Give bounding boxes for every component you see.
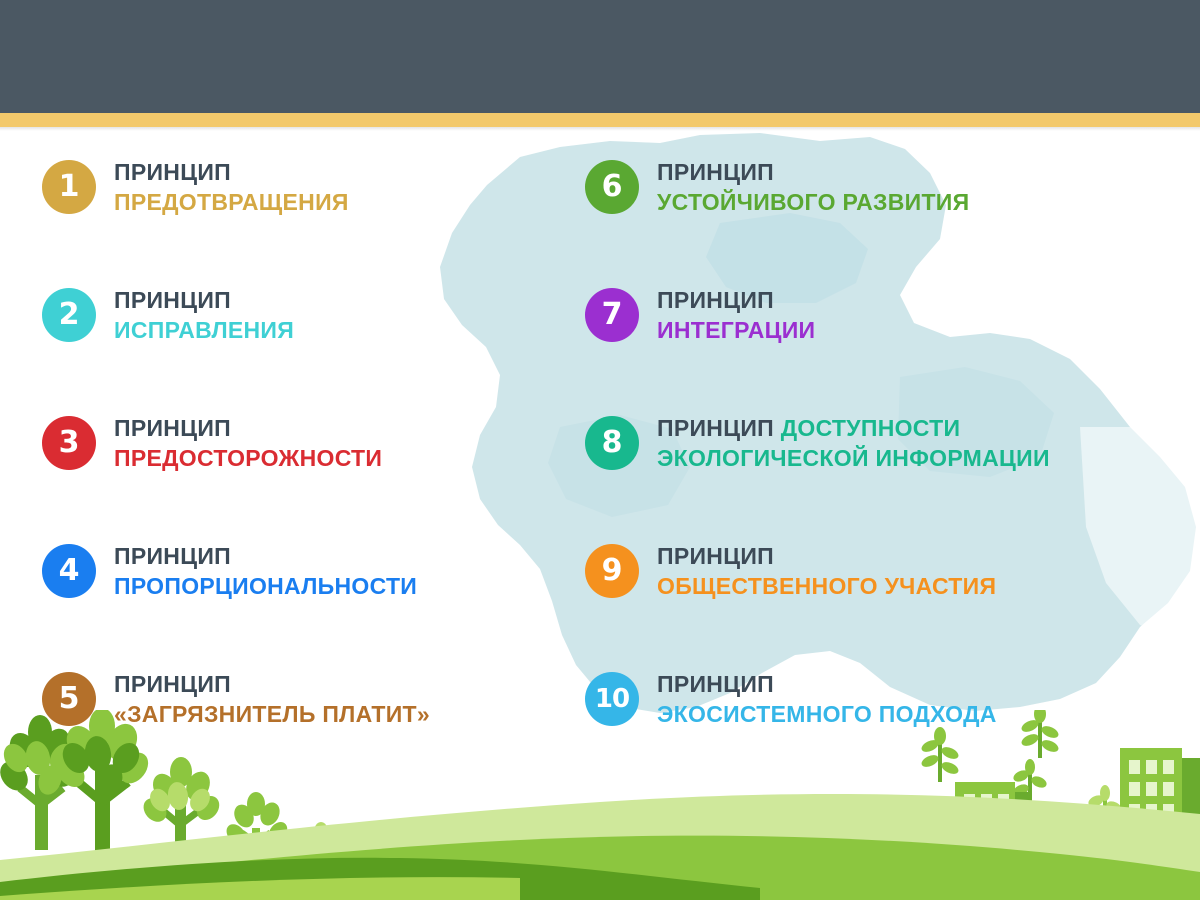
principle-name-2: ИСПРАВЛЕНИЯ xyxy=(114,315,294,345)
principle-label-1: ПРИНЦИП xyxy=(114,157,349,187)
principle-name-3: ПРЕДОСТОРОЖНОСТИ xyxy=(114,443,382,473)
principle-number-badge-6: 6 xyxy=(585,160,639,214)
principle-name-1: ПРЕДОТВРАЩЕНИЯ xyxy=(114,187,349,217)
principle-text-10: ПРИНЦИП ЭКОСИСТЕМНОГО ПОДХОДА xyxy=(657,669,997,729)
accent-stripe-shadow xyxy=(0,127,1200,131)
principle-number-badge-8: 8 xyxy=(585,416,639,470)
principle-item-6[interactable]: 6 ПРИНЦИП УСТОЙЧИВОГО РАЗВИТИЯ xyxy=(585,150,969,224)
principle-number-badge-3: 3 xyxy=(42,416,96,470)
principle-number-badge-2: 2 xyxy=(42,288,96,342)
building-mid xyxy=(1040,828,1112,900)
principle-item-1[interactable]: 1 ПРИНЦИП ПРЕДОТВРАЩЕНИЯ xyxy=(42,150,349,224)
principle-text-3: ПРИНЦИП ПРЕДОСТОРОЖНОСТИ xyxy=(114,413,382,473)
principle-number-badge-4: 4 xyxy=(42,544,96,598)
principle-text-4: ПРИНЦИП ПРОПОРЦИОНАЛЬНОСТИ xyxy=(114,541,417,601)
building-tall-mid xyxy=(955,782,1031,900)
header-band xyxy=(0,0,1200,113)
principle-name-9: ОБЩЕСТВЕННОГО УЧАСТИЯ xyxy=(657,571,996,601)
principle-text-8: ПРИНЦИП ДОСТУПНОСТИ ЭКОЛОГИЧЕСКОЙ ИНФОРМ… xyxy=(657,413,1050,473)
principle-item-4[interactable]: 4 ПРИНЦИП ПРОПОРЦИОНАЛЬНОСТИ xyxy=(42,534,417,608)
principle-name-6: УСТОЙЧИВОГО РАЗВИТИЯ xyxy=(657,187,969,217)
principle-label-8: ПРИНЦИП xyxy=(657,415,774,441)
principle-text-5: ПРИНЦИП «ЗАГРЯЗНИТЕЛЬ ПЛАТИТ» xyxy=(114,669,430,729)
principle-label-3: ПРИНЦИП xyxy=(114,413,382,443)
principle-number-badge-5: 5 xyxy=(42,672,96,726)
principle-text-2: ПРИНЦИП ИСПРАВЛЕНИЯ xyxy=(114,285,294,345)
principle-label-8-combined: ПРИНЦИП ДОСТУПНОСТИ xyxy=(657,413,1050,443)
infographic-poster: 10 принципов, на которых базируется прое… xyxy=(0,0,1200,900)
principle-number-badge-7: 7 xyxy=(585,288,639,342)
principle-label-2: ПРИНЦИП xyxy=(114,285,294,315)
principle-label-9: ПРИНЦИП xyxy=(657,541,996,571)
principle-label-7: ПРИНЦИП xyxy=(657,285,815,315)
principle-item-10[interactable]: 10 ПРИНЦИП ЭКОСИСТЕМНОГО ПОДХОДА xyxy=(585,662,997,736)
principle-item-5[interactable]: 5 ПРИНЦИП «ЗАГРЯЗНИТЕЛЬ ПЛАТИТ» xyxy=(42,662,430,736)
principle-label-5: ПРИНЦИП xyxy=(114,669,430,699)
principle-name-5: «ЗАГРЯЗНИТЕЛЬ ПЛАТИТ» xyxy=(114,699,430,729)
principle-item-8[interactable]: 8 ПРИНЦИП ДОСТУПНОСТИ ЭКОЛОГИЧЕСКОЙ ИНФО… xyxy=(585,406,1050,480)
principle-label-10: ПРИНЦИП xyxy=(657,669,997,699)
tree-medium xyxy=(139,757,224,863)
principle-label-4: ПРИНЦИП xyxy=(114,541,417,571)
building-tallest-right xyxy=(1120,748,1200,900)
hills xyxy=(0,794,1200,900)
principle-number-badge-10: 10 xyxy=(585,672,639,726)
principle-text-1: ПРИНЦИП ПРЕДОТВРАЩЕНИЯ xyxy=(114,157,349,217)
principle-item-2[interactable]: 2 ПРИНЦИП ИСПРАВЛЕНИЯ xyxy=(42,278,294,352)
principle-name-4: ПРОПОРЦИОНАЛЬНОСТИ xyxy=(114,571,417,601)
tree-sprout xyxy=(295,822,346,878)
accent-stripe xyxy=(0,113,1200,127)
principle-name-8-line-2: ЭКОЛОГИЧЕСКОЙ ИНФОРМАЦИИ xyxy=(657,443,1050,473)
principle-label-6: ПРИНЦИП xyxy=(657,157,969,187)
principle-item-3[interactable]: 3 ПРИНЦИП ПРЕДОСТОРОЖНОСТИ xyxy=(42,406,382,480)
principle-name-10: ЭКОСИСТЕМНОГО ПОДХОДА xyxy=(657,699,997,729)
principle-name-7: ИНТЕГРАЦИИ xyxy=(657,315,815,345)
principle-text-7: ПРИНЦИП ИНТЕГРАЦИИ xyxy=(657,285,815,345)
principles-list: 1 ПРИНЦИП ПРЕДОТВРАЩЕНИЯ 2 ПРИНЦИП ИСПРА… xyxy=(0,150,1200,770)
building-short-left xyxy=(875,838,949,900)
principle-number-badge-1: 1 xyxy=(42,160,96,214)
principle-text-6: ПРИНЦИП УСТОЙЧИВОГО РАЗВИТИЯ xyxy=(657,157,969,217)
principle-item-7[interactable]: 7 ПРИНЦИП ИНТЕГРАЦИИ xyxy=(585,278,815,352)
principle-name-8: ДОСТУПНОСТИ xyxy=(781,415,961,441)
tree-small xyxy=(223,792,291,872)
principle-text-9: ПРИНЦИП ОБЩЕСТВЕННОГО УЧАСТИЯ xyxy=(657,541,996,601)
principle-item-9[interactable]: 9 ПРИНЦИП ОБЩЕСТВЕННОГО УЧАСТИЯ xyxy=(585,534,996,608)
principle-number-badge-9: 9 xyxy=(585,544,639,598)
